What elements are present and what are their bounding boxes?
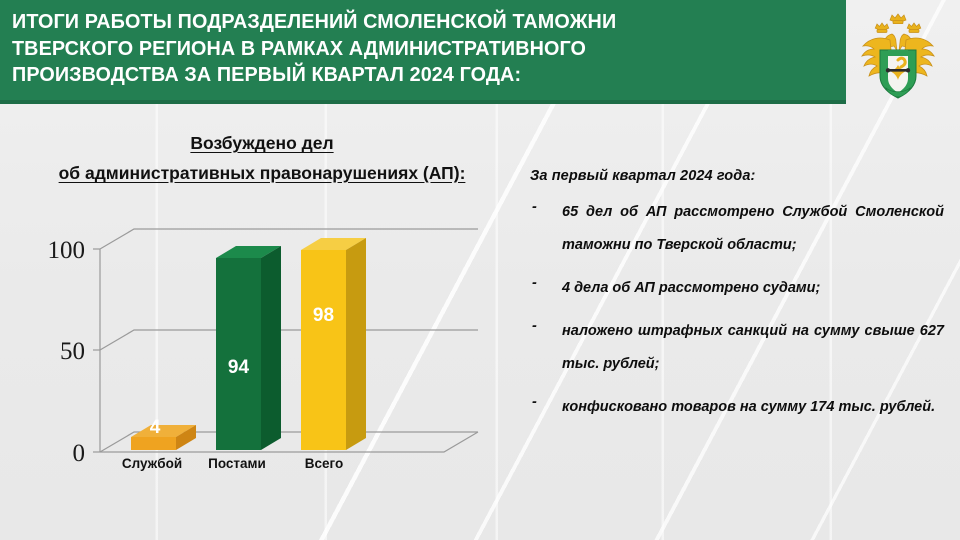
chart-title-line2: об административных правонарушениях (АП)…	[6, 158, 518, 188]
x-axis-category-labels: Службой Постами Всего	[122, 456, 343, 471]
chart-title-line1: Возбуждено дел	[190, 133, 333, 153]
bar-column-postami[interactable]	[216, 246, 281, 450]
category-label-postami: Постами	[208, 456, 266, 471]
list-item: - 65 дел об АП рассмотрено Службой Смоле…	[528, 196, 948, 262]
list-item-text: конфисковано товаров на сумму 174 тыс. р…	[562, 391, 944, 424]
bar-label-postami: 94	[228, 357, 250, 378]
list-item: - конфисковано товаров на сумму 174 тыс.…	[528, 391, 948, 424]
y-tick-100: 100	[48, 237, 86, 264]
bar-label-vsego: 98	[313, 305, 334, 326]
bar-label-sluzhboy: 4	[150, 417, 161, 438]
bullet-marker: -	[532, 197, 537, 217]
category-label-sluzhboy: Службой	[122, 456, 182, 471]
summary-panel: За первый квартал 2024 года: - 65 дел об…	[528, 168, 948, 434]
list-item: - 4 дела об АП рассмотрено судами;	[528, 272, 948, 305]
y-tick-0: 0	[73, 440, 86, 467]
category-label-vsego: Всего	[305, 456, 343, 471]
bullet-marker: -	[532, 316, 537, 336]
panel-intro-text: За первый квартал 2024 года:	[530, 168, 948, 184]
y-axis-tick-labels: 100 50 0	[48, 237, 86, 467]
bullet-marker: -	[532, 392, 537, 412]
slide-header-banner: ИТОГИ РАБОТЫ ПОДРАЗДЕЛЕНИЙ СМОЛЕНСКОЙ ТА…	[0, 0, 846, 104]
chart-title: Возбуждено дел об административных право…	[6, 128, 518, 188]
list-item-text: наложено штрафных санкций на сумму свыше…	[562, 315, 944, 381]
list-item: - наложено штрафных санкций на сумму свы…	[528, 315, 948, 381]
slide-canvas: ИТОГИ РАБОТЫ ПОДРАЗДЕЛЕНИЙ СМОЛЕНСКОЙ ТА…	[0, 0, 960, 540]
bar-chart: 100 50 0 4 94	[0, 196, 520, 486]
list-item-text: 4 дела об АП рассмотрено судами;	[562, 272, 944, 305]
bullet-marker: -	[532, 273, 537, 293]
list-item-text: 65 дел об АП рассмотрено Службой Смоленс…	[562, 196, 944, 262]
bar-column-vsego[interactable]	[301, 238, 366, 450]
page-title: ИТОГИ РАБОТЫ ПОДРАЗДЕЛЕНИЙ СМОЛЕНСКОЙ ТА…	[12, 9, 803, 89]
y-tick-50: 50	[60, 338, 85, 365]
russian-customs-emblem-icon	[852, 8, 944, 104]
bar-column-sluzhboy[interactable]	[131, 425, 196, 450]
